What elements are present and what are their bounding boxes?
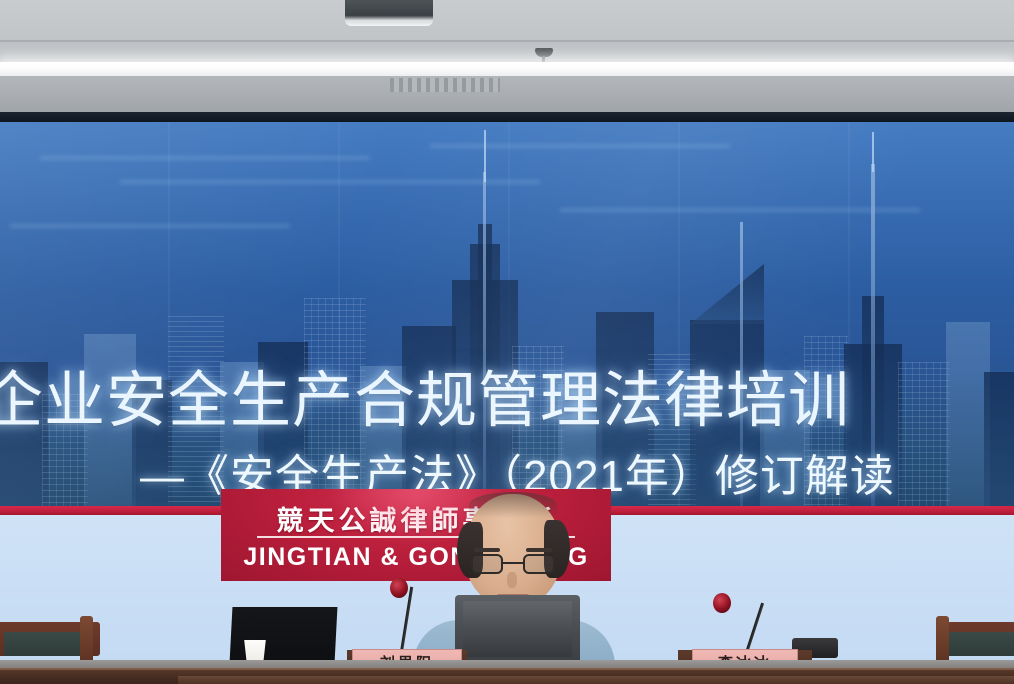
conference-room-scene: 企业安全生产合规管理法律培训 —《安全生产法》（2021年）修订解读 競天公誠律… (0, 0, 1014, 684)
glasses-icon-right (523, 554, 555, 574)
chair-post (936, 616, 949, 662)
presenter-nose (507, 572, 517, 588)
air-vent-icon (390, 78, 500, 92)
desk-front-highlight (0, 668, 1014, 670)
presenter-brow-right (526, 548, 552, 552)
presentation-screen: 企业安全生产合规管理法律培训 —《安全生产法》（2021年）修订解读 (0, 122, 1014, 512)
ceiling-seam (0, 40, 1014, 42)
glasses-bridge (503, 562, 523, 564)
light-strip (0, 62, 1014, 76)
chair-pad (4, 632, 82, 656)
building-angled-top (690, 264, 764, 324)
microphone-head-right[interactable] (713, 593, 731, 613)
ceiling-lamp-icon (345, 0, 433, 26)
desk-lower-panel (178, 676, 1014, 684)
presenter-hair-top (469, 492, 557, 518)
cloud-streak (40, 156, 370, 160)
chair-pad (948, 632, 1014, 656)
ceiling (0, 0, 1014, 120)
needle-tower-antenna (872, 132, 874, 172)
laptop-right[interactable] (455, 595, 580, 663)
cloud-streak (120, 180, 540, 184)
laptop-left[interactable] (230, 607, 338, 663)
glasses-icon-left (471, 554, 503, 574)
cloud-streak (430, 144, 730, 148)
presenter-brow-left (474, 548, 500, 552)
tower-antenna (484, 130, 486, 182)
chair-post (80, 616, 93, 662)
microphone-head-left[interactable] (390, 578, 408, 598)
slide-title: 企业安全生产合规管理法律培训 (0, 350, 902, 439)
